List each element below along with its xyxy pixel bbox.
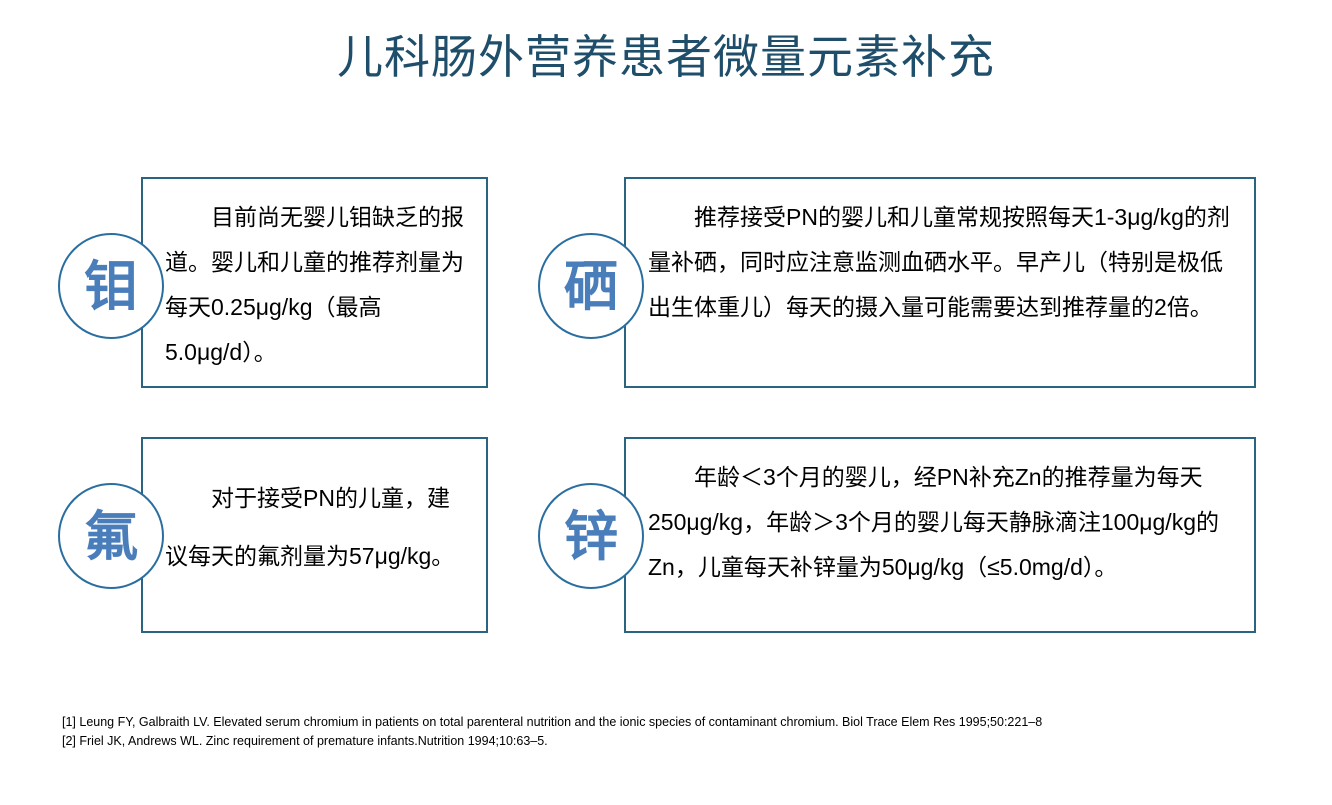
element-badge-zinc: 锌 bbox=[538, 483, 644, 589]
element-card-zinc: 年龄＜3个月的婴儿，经PN补充Zn的推荐量为每天250μg/kg，年龄＞3个月的… bbox=[624, 437, 1256, 633]
element-card-text: 年龄＜3个月的婴儿，经PN补充Zn的推荐量为每天250μg/kg，年龄＞3个月的… bbox=[626, 439, 1254, 590]
element-badge-selenium: 硒 bbox=[538, 233, 644, 339]
page-title: 儿科肠外营养患者微量元素补充 bbox=[0, 28, 1332, 86]
element-card-text: 推荐接受PN的婴儿和儿童常规按照每天1-3μg/kg的剂量补硒，同时应注意监测血… bbox=[626, 179, 1254, 330]
element-symbol-label: 氟 bbox=[84, 509, 138, 563]
element-badge-molybdenum: 钼 bbox=[58, 233, 164, 339]
slide-canvas: 儿科肠外营养患者微量元素补充 目前尚无婴儿钼缺乏的报道。婴儿和儿童的推荐剂量为每… bbox=[0, 0, 1332, 805]
element-card-molybdenum: 目前尚无婴儿钼缺乏的报道。婴儿和儿童的推荐剂量为每天0.25μg/kg（最高5.… bbox=[141, 177, 488, 388]
reference-item: [2] Friel JK, Andrews WL. Zinc requireme… bbox=[62, 732, 1262, 751]
element-symbol-label: 钼 bbox=[84, 259, 138, 313]
element-symbol-label: 锌 bbox=[564, 509, 618, 563]
element-card-text: 对于接受PN的儿童，建议每天的氟剂量为57μg/kg。 bbox=[143, 439, 486, 585]
references-block: [1] Leung FY, Galbraith LV. Elevated ser… bbox=[62, 713, 1262, 751]
element-card-text: 目前尚无婴儿钼缺乏的报道。婴儿和儿童的推荐剂量为每天0.25μg/kg（最高5.… bbox=[143, 179, 486, 375]
element-symbol-label: 硒 bbox=[564, 259, 618, 313]
element-badge-fluorine: 氟 bbox=[58, 483, 164, 589]
reference-item: [1] Leung FY, Galbraith LV. Elevated ser… bbox=[62, 713, 1262, 732]
element-card-fluorine: 对于接受PN的儿童，建议每天的氟剂量为57μg/kg。 bbox=[141, 437, 488, 633]
element-card-selenium: 推荐接受PN的婴儿和儿童常规按照每天1-3μg/kg的剂量补硒，同时应注意监测血… bbox=[624, 177, 1256, 388]
